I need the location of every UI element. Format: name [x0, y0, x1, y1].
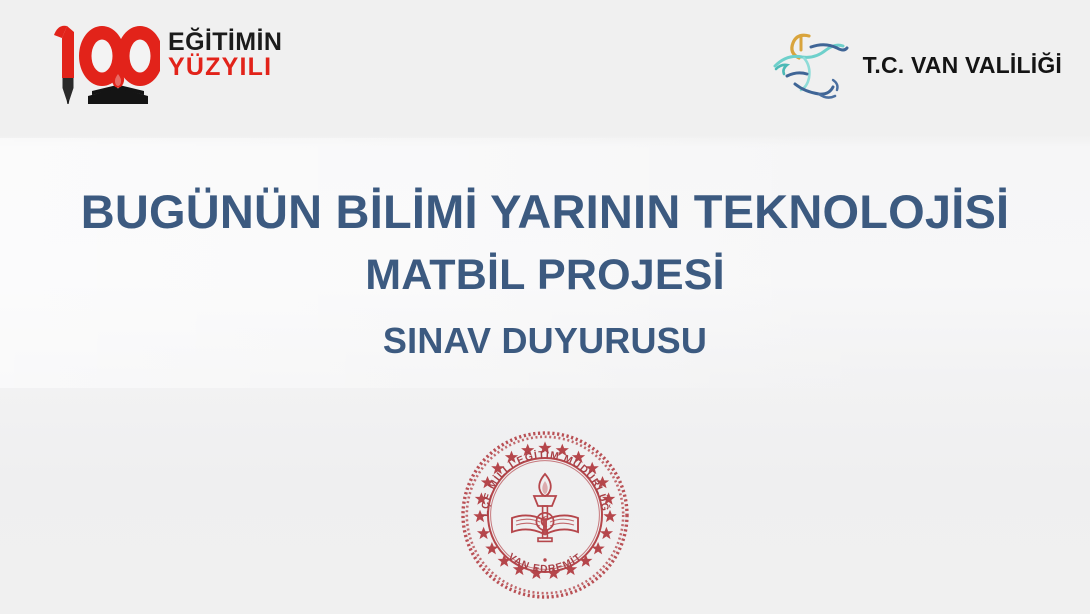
- slide-canvas: EĞİTİMİN YÜZYILI: [0, 0, 1090, 614]
- seal-central-emblem: [512, 474, 578, 541]
- announcement-titles: BUGÜNÜN BİLİMİ YARININ TEKNOLOJİSİ MATBİ…: [0, 186, 1090, 361]
- van-cat-emblem-icon: [771, 24, 857, 106]
- project-name: MATBİL PROJESİ: [0, 251, 1090, 299]
- star-icon: [600, 527, 613, 539]
- seal-inner-ring-thin: [491, 461, 600, 570]
- star-icon: [477, 527, 490, 539]
- seal-text-top: İLÇE MİLLİ EĞİTİM MÜDÜRLÜĞÜ: [460, 430, 612, 517]
- logo-line-egitimin: EĞİTİMİN: [168, 30, 282, 55]
- flame-icon: [539, 474, 551, 496]
- pencil-icon: [54, 26, 74, 104]
- tc-van-valiligi-logo: T.C. VAN VALİLİĞİ: [771, 18, 1062, 106]
- seal-center-dot: [543, 558, 546, 561]
- announcement-subtitle: SINAV DUYURUSU: [0, 321, 1090, 361]
- egitimin-yuzyili-wordmark: EĞİTİMİN YÜZYILI: [168, 18, 282, 79]
- hundred-numeral-mark: [48, 18, 160, 104]
- tc-van-valiligi-wordmark: T.C. VAN VALİLİĞİ: [863, 52, 1062, 79]
- logo-line-yuzyili: YÜZYILI: [168, 55, 282, 80]
- header: EĞİTİMİN YÜZYILI: [0, 0, 1090, 120]
- seal-container: İLÇE MİLLİ EĞİTİM MÜDÜRLÜĞÜ VAN EDREMİT: [0, 430, 1090, 600]
- page-title: BUGÜNÜN BİLİMİ YARININ TEKNOLOJİSİ: [0, 186, 1090, 239]
- van-edremit-ilce-milli-egitim-mudurlugu-seal: İLÇE MİLLİ EĞİTİM MÜDÜRLÜĞÜ VAN EDREMİT: [460, 430, 630, 600]
- egitimin-yuzyili-logo: EĞİTİMİN YÜZYILI: [48, 18, 282, 104]
